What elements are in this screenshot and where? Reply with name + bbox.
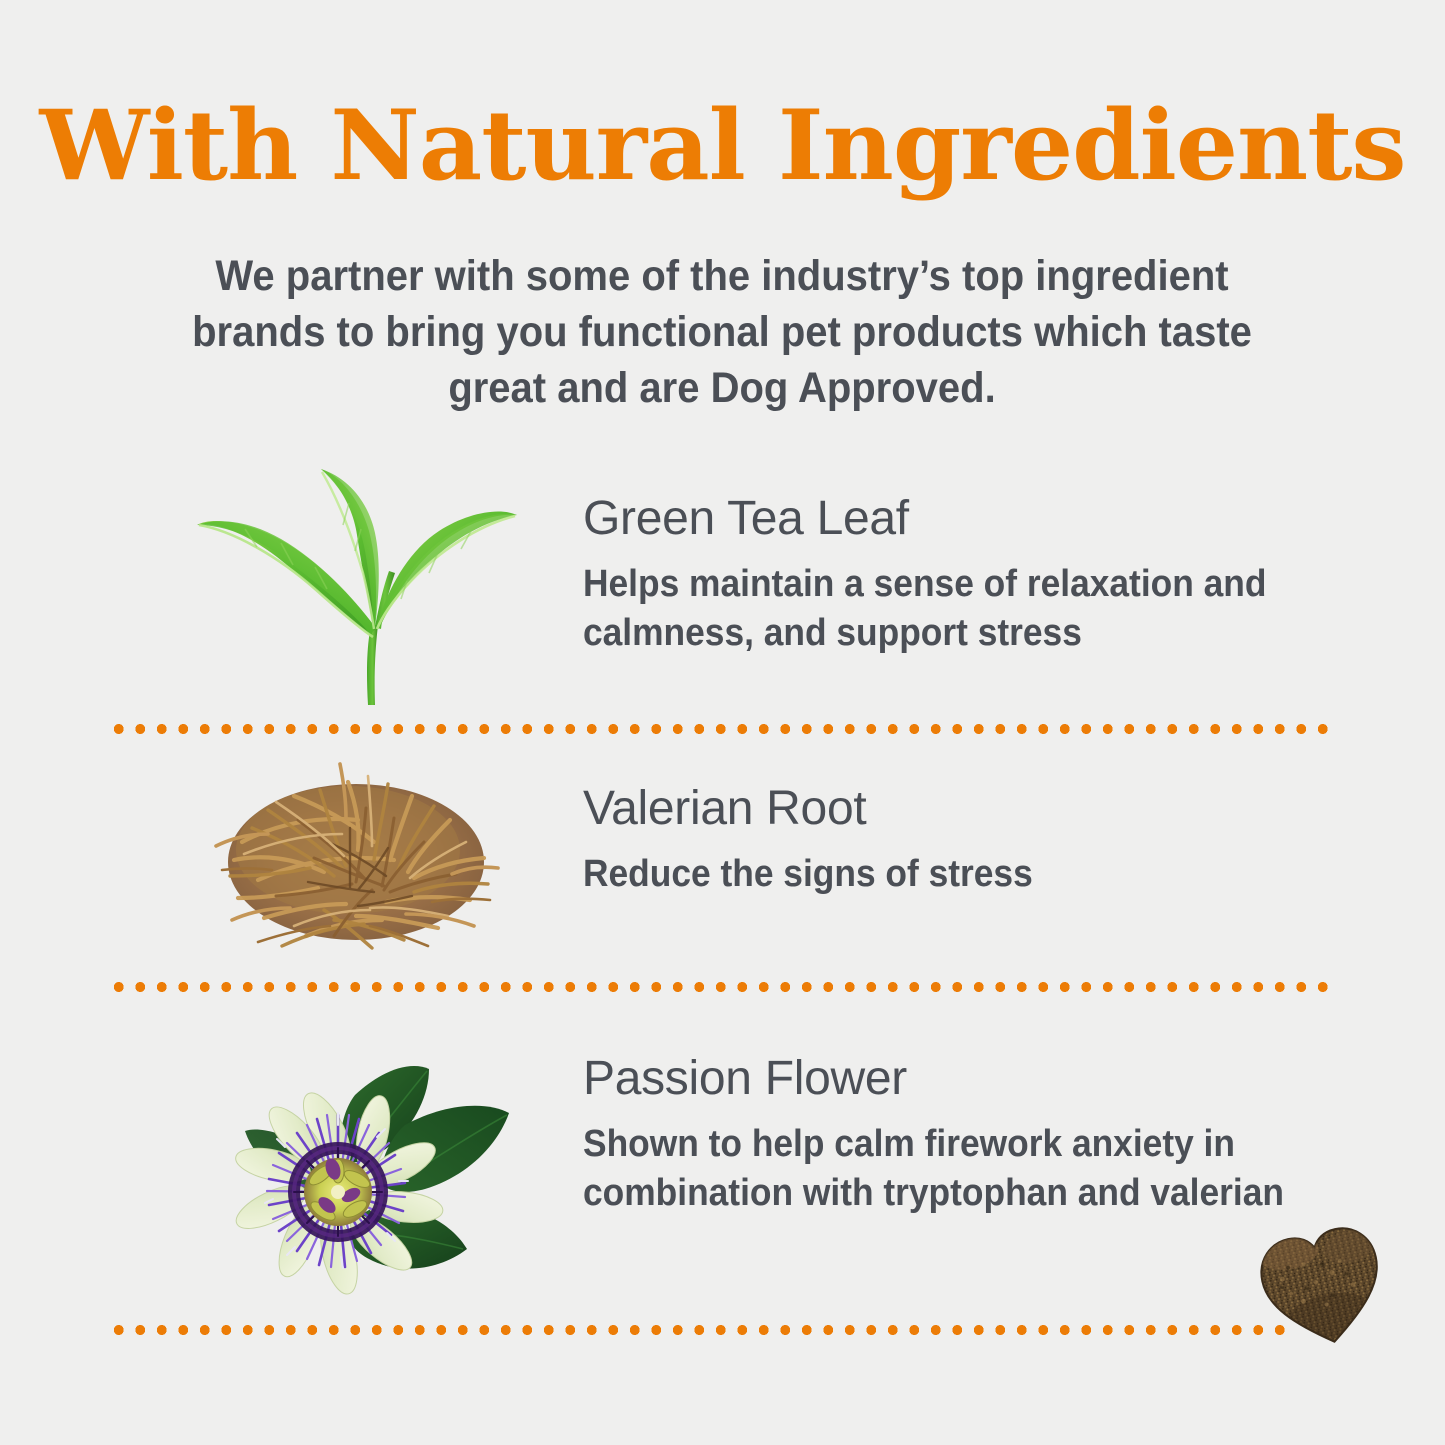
passion-flower-image	[205, 1055, 525, 1310]
ingredient-text-green-tea-leaf: Green Tea Leaf Helps maintain a sense of…	[583, 490, 1373, 658]
ingredient-name: Valerian Root	[583, 780, 1373, 838]
dotted-divider	[108, 982, 1336, 992]
page-subtitle: We partner with some of the industry’s t…	[164, 248, 1280, 416]
ingredient-description: Shown to help calm firework anxiety in c…	[583, 1120, 1376, 1218]
ingredient-description: Reduce the signs of stress	[583, 850, 1376, 899]
green-tea-leaf-image	[185, 455, 525, 725]
page-title: With Natural Ingredients	[0, 96, 1445, 197]
ingredient-text-passion-flower: Passion Flower Shown to help calm firewo…	[583, 1050, 1373, 1218]
dotted-divider	[108, 1325, 1293, 1335]
ingredient-text-valerian-root: Valerian Root Reduce the signs of stress	[583, 780, 1373, 899]
ingredient-name: Passion Flower	[583, 1050, 1373, 1108]
valerian-root-image	[198, 750, 518, 970]
natural-ingredients-infographic: With Natural Ingredients We partner with…	[0, 0, 1445, 1445]
ingredient-description: Helps maintain a sense of relaxation and…	[583, 560, 1376, 658]
dotted-divider	[108, 724, 1336, 734]
ingredient-name: Green Tea Leaf	[583, 490, 1373, 548]
